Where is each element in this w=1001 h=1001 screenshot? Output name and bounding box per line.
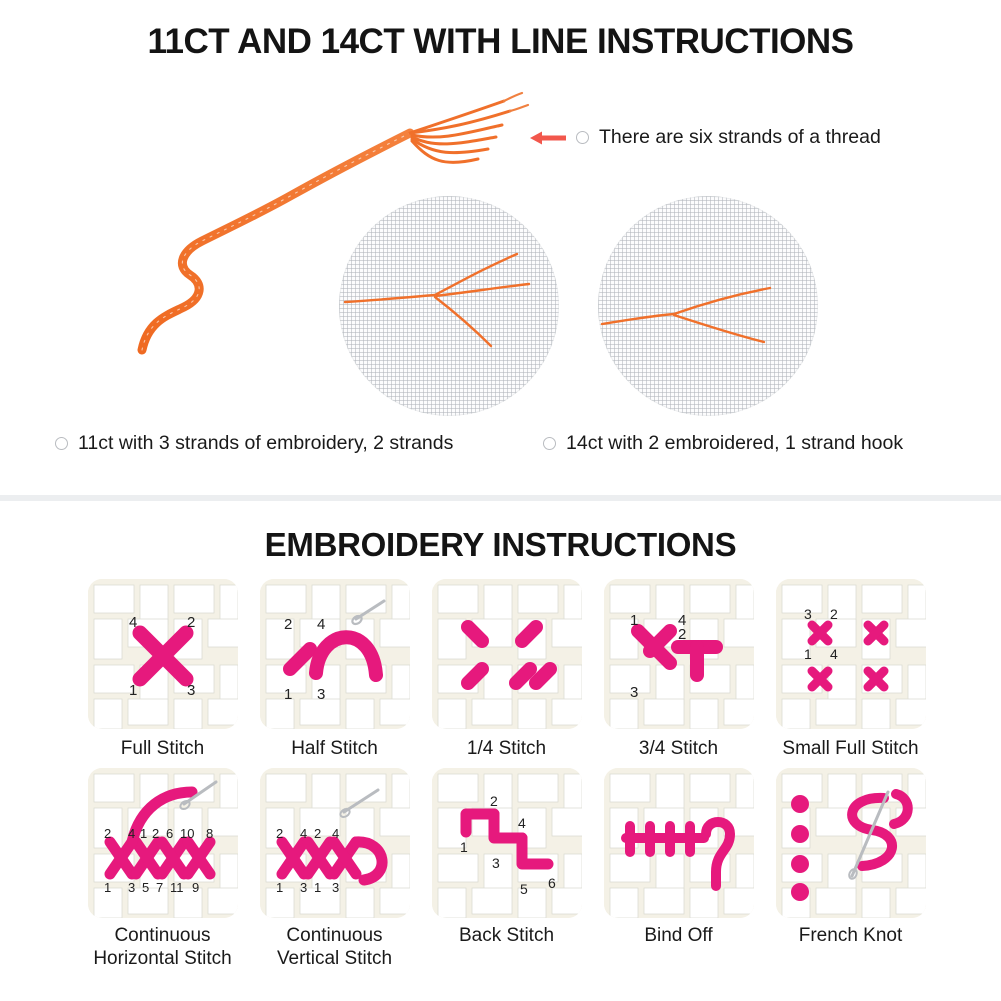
stitch-grid: 42 13 Full Stitch (85, 579, 930, 970)
svg-text:3: 3 (128, 880, 135, 895)
stitch-cell-quarter: 1/4 Stitch (429, 579, 584, 760)
svg-text:2: 2 (284, 616, 292, 633)
caption-11ct-text: 11ct with 3 strands of embroidery, 2 str… (78, 432, 453, 455)
stitch-label: French Knot (799, 925, 903, 947)
stitch-label: Full Stitch (121, 738, 204, 760)
page-title-line-instructions: 11CT AND 14CT WITH LINE INSTRUCTIONS (0, 22, 1001, 62)
svg-text:1: 1 (284, 686, 292, 703)
svg-text:4: 4 (830, 646, 838, 662)
caption-14ct: 14ct with 2 embroidered, 1 strand hook (543, 432, 903, 455)
svg-text:3: 3 (332, 880, 339, 895)
stitch-label: Back Stitch (459, 925, 554, 947)
svg-text:1: 1 (276, 880, 283, 895)
svg-text:3: 3 (317, 686, 325, 703)
six-strands-note: There are six strands of a thread (530, 126, 881, 149)
stitch-cell-continuous-horizontal: 24 12 610 8 13 57 119 Continuous Horizon… (85, 768, 240, 970)
svg-text:1: 1 (104, 880, 111, 895)
svg-text:3: 3 (804, 606, 812, 622)
svg-text:6: 6 (166, 826, 173, 841)
fabric-sample-14ct (598, 196, 818, 416)
page-title-embroidery: EMBROIDERY INSTRUCTIONS (0, 526, 1001, 564)
caption-14ct-text: 14ct with 2 embroidered, 1 strand hook (566, 432, 903, 455)
svg-text:1: 1 (460, 839, 468, 855)
svg-text:4: 4 (317, 616, 325, 633)
section-line-instructions: 11CT AND 14CT WITH LINE INSTRUCTIONS (0, 0, 1001, 495)
svg-text:2: 2 (276, 826, 283, 841)
stitch-tile-threequarter: 14 32 (604, 579, 754, 729)
stitch-tile-back: 1 2 4 3 5 6 (432, 768, 582, 918)
fabric-captions: 11ct with 3 strands of embroidery, 2 str… (0, 432, 1001, 462)
stitch-label: Small Full Stitch (782, 738, 918, 760)
stitch-label: Bind Off (644, 925, 712, 947)
svg-text:2: 2 (490, 793, 498, 809)
svg-text:4: 4 (129, 614, 137, 631)
stitch-label: Continuous Horizontal Stitch (93, 925, 231, 970)
svg-text:3: 3 (630, 684, 638, 701)
stitch-tile-half: 24 13 (260, 579, 410, 729)
svg-text:3: 3 (492, 855, 500, 871)
stitch-cell-french-knot: French Knot (773, 768, 928, 970)
stitch-cell-bind-off: Bind Off (601, 768, 756, 970)
svg-text:5: 5 (520, 881, 528, 897)
svg-text:10: 10 (180, 826, 194, 841)
svg-text:1: 1 (804, 646, 812, 662)
svg-text:8: 8 (206, 826, 213, 841)
svg-text:4: 4 (518, 815, 526, 831)
svg-text:4: 4 (128, 826, 135, 841)
stitch-cell-threequarter: 14 32 3/4 Stitch (601, 579, 756, 760)
bullet-circle-icon (576, 131, 589, 144)
svg-text:11: 11 (170, 880, 184, 895)
svg-text:5: 5 (142, 880, 149, 895)
stitch-label: 1/4 Stitch (467, 738, 546, 760)
stitch-cell-full: 42 13 Full Stitch (85, 579, 240, 760)
stitch-label: 3/4 Stitch (639, 738, 718, 760)
stitch-tile-continuous-horizontal: 24 12 610 8 13 57 119 (88, 768, 238, 918)
stitch-cell-half: 24 13 Half Stitch (257, 579, 412, 760)
stitch-tile-small-full: 32 14 (776, 579, 926, 729)
stitch-label: Half Stitch (291, 738, 378, 760)
six-strands-note-text: There are six strands of a thread (599, 126, 881, 149)
stitch-label: Continuous Vertical Stitch (277, 925, 392, 970)
stitch-cell-continuous-vertical: 24 24 13 13 Continuous Vertical Stitch (257, 768, 412, 970)
bullet-circle-icon (543, 437, 556, 450)
stitch-tile-continuous-vertical: 24 24 13 13 (260, 768, 410, 918)
caption-11ct: 11ct with 3 strands of embroidery, 2 str… (55, 432, 453, 455)
section-embroidery-instructions: EMBROIDERY INSTRUCTIONS (0, 501, 1001, 1001)
svg-text:4: 4 (332, 826, 339, 841)
svg-text:2: 2 (104, 826, 111, 841)
svg-text:7: 7 (156, 880, 163, 895)
stitch-tile-bind-off (604, 768, 754, 918)
svg-text:1: 1 (140, 826, 147, 841)
svg-text:2: 2 (830, 606, 838, 622)
svg-text:2: 2 (187, 614, 195, 631)
svg-text:1: 1 (630, 612, 638, 629)
svg-text:3: 3 (300, 880, 307, 895)
svg-text:2: 2 (152, 826, 159, 841)
svg-text:2: 2 (678, 626, 686, 643)
bullet-circle-icon (55, 437, 68, 450)
arrow-left-icon (530, 130, 566, 146)
stitch-cell-small-full: 32 14 Small Full Stitch (773, 579, 928, 760)
stitch-tile-quarter (432, 579, 582, 729)
stitch-tile-french-knot (776, 768, 926, 918)
svg-text:2: 2 (314, 826, 321, 841)
svg-text:4: 4 (300, 826, 307, 841)
fabric-sample-11ct (339, 196, 559, 416)
page-root: 11CT AND 14CT WITH LINE INSTRUCTIONS (0, 0, 1001, 1001)
svg-text:1: 1 (129, 682, 137, 699)
svg-text:1: 1 (314, 880, 321, 895)
stitch-tile-full: 42 13 (88, 579, 238, 729)
svg-text:9: 9 (192, 880, 199, 895)
svg-text:6: 6 (548, 875, 556, 891)
svg-text:3: 3 (187, 682, 195, 699)
stitch-cell-back: 1 2 4 3 5 6 Back Stitch (429, 768, 584, 970)
